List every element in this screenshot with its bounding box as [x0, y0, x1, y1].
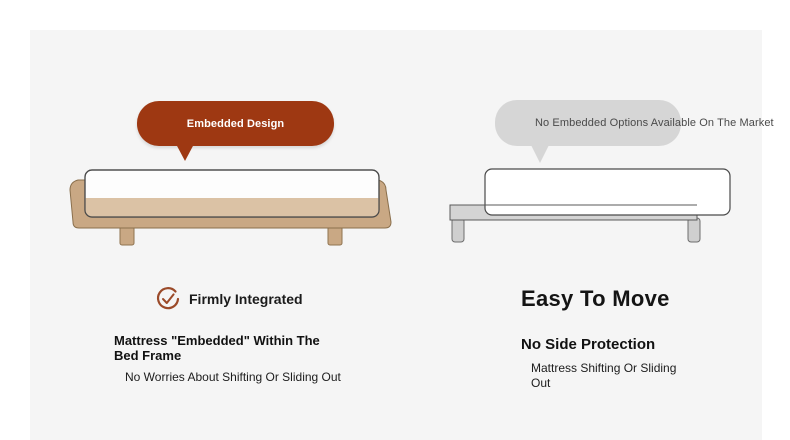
left-callout-bubble: Embedded Design: [137, 101, 334, 146]
check-circle-icon: [155, 286, 181, 312]
left-heading-row: Firmly Integrated: [155, 286, 303, 312]
left-note: No Worries About Shifting Or Sliding Out: [125, 370, 341, 385]
right-bed-illustration: [435, 160, 745, 255]
right-subtitle: No Side Protection: [521, 336, 655, 353]
left-heading-text: Firmly Integrated: [189, 291, 303, 307]
right-callout-label: No Embedded Options Available On The Mar…: [535, 117, 774, 129]
left-bed-illustration: [60, 160, 405, 255]
left-callout-tail: [176, 144, 194, 161]
right-note: Mattress Shifting Or Sliding Out: [531, 361, 681, 391]
left-callout-label: Embedded Design: [187, 118, 284, 130]
comparison-graphic: Embedded Design Firmly Integrated Mattre…: [0, 0, 790, 440]
left-subtitle: Mattress "Embedded" Within The Bed Frame: [114, 333, 344, 363]
right-heading-text: Easy To Move: [521, 286, 670, 312]
right-callout-bubble: No Embedded Options Available On The Mar…: [495, 100, 681, 146]
